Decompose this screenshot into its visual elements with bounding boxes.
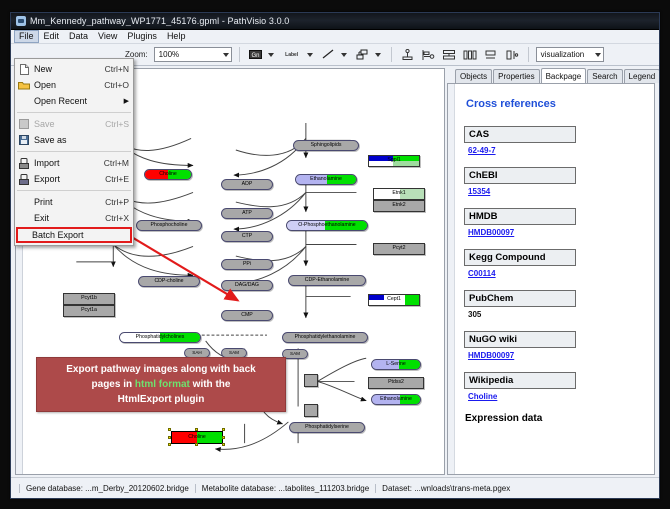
selection-handle-s[interactable] — [195, 443, 198, 446]
interaction-dropdown-icon[interactable] — [375, 53, 381, 57]
node-label: Ethanolamine — [380, 397, 412, 402]
node-phosphocholine[interactable]: Phosphocholine — [136, 220, 202, 231]
menu-separator-1 — [17, 112, 131, 113]
gene-label: Etnk1 — [392, 191, 405, 196]
tab-search[interactable]: Search — [587, 69, 622, 83]
gene-fill-right — [405, 295, 419, 305]
xref-value-kegg[interactable]: C00114 — [468, 269, 644, 278]
xref-value-nugo[interactable]: HMDB00097 — [468, 351, 644, 360]
selection-handle-sw[interactable] — [168, 443, 171, 446]
menu-item-new[interactable]: New Ctrl+N — [15, 61, 133, 77]
backpage-panel: Cross references CAS 62-49-7 ChEBI 15354… — [447, 83, 655, 475]
callout-line-1: Export pathway images along with back — [43, 362, 279, 377]
node-l-serine[interactable]: L-Serine — [371, 359, 421, 370]
blank-icon-2 — [17, 196, 31, 208]
menu-item-import-label: Import — [34, 158, 98, 168]
visualization-value: visualization — [541, 50, 585, 59]
align-left-tool-icon[interactable] — [420, 46, 437, 63]
status-metabolite-database: Metabolite database: ...tabolites_111203… — [195, 484, 375, 493]
node-phosphatidylcholines[interactable]: Phosphatidylcholines — [119, 332, 201, 343]
node-label: L-Serine — [386, 362, 406, 367]
save-as-icon — [17, 134, 31, 146]
node-atp[interactable]: ATP — [221, 208, 273, 219]
menu-item-open[interactable]: Open Ctrl+O — [15, 77, 133, 93]
selection-handle-e[interactable] — [222, 436, 225, 439]
xref-head-kegg: Kegg Compound — [464, 249, 576, 266]
selection-handle-ne[interactable] — [222, 428, 225, 431]
xref-head-cas: CAS — [464, 126, 576, 143]
gene-pcyt2[interactable]: Pcyt2 — [373, 243, 425, 255]
side-panel-tabs: Objects Properties Backpage Search Legen… — [447, 68, 655, 83]
node-cdp-ethanolamine[interactable]: CDP-Ethanolamine — [288, 275, 366, 286]
datanode-dropdown-icon[interactable] — [268, 53, 274, 57]
menu-item-print-label: Print — [34, 197, 99, 207]
toolbar-separator-3 — [528, 47, 529, 62]
xref-value-cas[interactable]: 62-49-7 — [468, 146, 644, 155]
submenu-arrow-icon: ▶ — [124, 97, 129, 105]
menu-item-save-label: Save — [34, 119, 99, 129]
node-label: O-Phosphoethanolamine — [298, 223, 355, 228]
menu-item-batch-export[interactable]: Batch Export — [16, 227, 132, 243]
node-adp[interactable]: ADP — [221, 179, 273, 190]
tab-legend[interactable]: Legend — [624, 69, 660, 83]
title-bar: Mm_Kennedy_pathway_WP1771_45176.gpml - P… — [11, 13, 659, 30]
xref-head-chebi: ChEBI — [464, 167, 576, 184]
gene-label: Ptdss2 — [388, 380, 404, 385]
node-label: Phosphatidylserine — [305, 425, 349, 430]
align-top-tool-icon[interactable] — [399, 46, 416, 63]
xref-value-chebi[interactable]: 15354 — [468, 187, 644, 196]
gene-unlabeled-2[interactable] — [304, 404, 318, 417]
interaction-tool-icon[interactable] — [354, 46, 371, 63]
toolbar-separator-2 — [391, 47, 392, 62]
node-cmp[interactable]: CMP — [221, 310, 273, 321]
svg-text:Gn: Gn — [251, 53, 259, 59]
node-phosphatidylethanolamine[interactable]: Phosphatidylethanolamine — [282, 332, 368, 343]
label-tool-button[interactable]: Label — [281, 46, 303, 63]
save-icon — [17, 118, 31, 130]
gene-etnk1[interactable]: Etnk1 — [373, 188, 425, 200]
gene-fill-tl — [369, 295, 384, 300]
selection-handle-w[interactable] — [168, 436, 171, 439]
status-gene-database: Gene database: ...m_Derby_20120602.bridg… — [19, 484, 195, 493]
expression-data-heading: Expression data — [465, 413, 644, 424]
import-icon — [17, 157, 31, 169]
node-label: ATP — [242, 211, 252, 216]
menu-item-new-accel: Ctrl+N — [105, 64, 129, 74]
toolbar-separator — [239, 47, 240, 62]
menu-item-open-label: Open — [34, 80, 98, 90]
menu-item-new-label: New — [34, 64, 99, 74]
node-label: SAM — [229, 351, 239, 356]
menu-item-exit[interactable]: Exit Ctrl+X — [15, 210, 133, 226]
node-label: Phosphatidylcholines — [136, 335, 185, 340]
gene-pcyt1b[interactable]: Pcyt1b — [63, 293, 115, 305]
line-tool-icon[interactable] — [320, 46, 337, 63]
menu-item-print[interactable]: Print Ctrl+P — [15, 194, 133, 210]
chevron-down-icon — [223, 53, 229, 57]
side-panel: Objects Properties Backpage Search Legen… — [447, 68, 655, 475]
stack-center-tool-icon[interactable] — [441, 46, 458, 63]
node-label: CDP-choline — [154, 279, 183, 284]
menu-edit[interactable]: Edit — [39, 30, 65, 43]
tab-backpage[interactable]: Backpage — [541, 68, 587, 84]
gene-etnk2[interactable]: Etnk2 — [373, 200, 425, 212]
node-label: Sphingolipids — [311, 143, 342, 148]
chevron-down-icon-2 — [595, 53, 601, 57]
pathvisio-icon — [16, 16, 26, 26]
menu-separator-2 — [17, 151, 131, 152]
node-dagdag[interactable]: DAG/DAG — [221, 280, 273, 291]
status-dataset: Dataset: ...wnloads\trans-meta.pgex — [375, 484, 516, 493]
gene-label: Pcyt2 — [393, 246, 406, 251]
xref-value-pubchem: 305 — [468, 310, 644, 319]
menu-bar: File Edit Data View Plugins Help — [11, 30, 659, 44]
menu-item-open-accel: Ctrl+O — [104, 80, 129, 90]
menu-item-print-accel: Ctrl+P — [105, 197, 129, 207]
visualization-combo[interactable]: visualization — [536, 47, 604, 62]
line-dropdown-icon[interactable] — [341, 53, 347, 57]
node-phosphatidylserine[interactable]: Phosphatidylserine — [289, 422, 365, 433]
menu-item-save-accel: Ctrl+S — [105, 119, 129, 129]
common-height-tool-icon[interactable] — [504, 46, 521, 63]
xref-value-hmdb[interactable]: HMDB00097 — [468, 228, 644, 237]
backpage-title: Cross references — [466, 98, 644, 110]
tab-objects[interactable]: Objects — [455, 69, 492, 83]
selection-handle-nw[interactable] — [168, 428, 171, 431]
menu-data[interactable]: Data — [64, 30, 93, 43]
blank-icon-3 — [17, 212, 31, 224]
node-label: CDP-Ethanolamine — [305, 278, 349, 283]
selection-handle-se[interactable] — [222, 443, 225, 446]
xref-head-nugo: NuGO wiki — [464, 331, 576, 348]
annotation-callout: Export pathway images along with back pa… — [36, 357, 286, 412]
menu-item-save-as[interactable]: Save as — [15, 132, 133, 148]
menu-item-export-accel: Ctrl+E — [105, 174, 129, 184]
pathvisio-window: Mm_Kennedy_pathway_WP1771_45176.gpml - P… — [10, 12, 660, 499]
menu-item-open-recent[interactable]: Open Recent ▶ — [15, 93, 133, 109]
menu-item-export-label: Export — [34, 174, 99, 184]
export-icon — [17, 173, 31, 185]
menu-plugins[interactable]: Plugins — [122, 30, 162, 43]
zoom-combo[interactable]: 100% — [154, 47, 232, 62]
gene-cept1[interactable]: Cept1 — [368, 294, 420, 306]
gene-label: Cept1 — [387, 297, 401, 302]
menu-separator-3 — [17, 190, 131, 191]
gene-pcyt1a[interactable]: Pcyt1a — [63, 305, 115, 317]
node-ethanolamine-low[interactable]: Ethanolamine — [371, 394, 421, 405]
gene-label: Pcyt1a — [81, 308, 97, 313]
common-width-tool-icon[interactable] — [483, 46, 500, 63]
distribute-horizontal-tool-icon[interactable] — [462, 46, 479, 63]
backpage-scrollbar[interactable] — [448, 84, 455, 474]
xref-head-pubchem: PubChem — [464, 290, 576, 307]
status-bar: Gene database: ...m_Derby_20120602.bridg… — [11, 477, 659, 498]
screen-background: Mm_Kennedy_pathway_WP1771_45176.gpml - P… — [0, 0, 670, 509]
gene-ptdss2[interactable]: Ptdss2 — [368, 377, 424, 389]
gene-label: Etnk2 — [392, 203, 405, 208]
blank-icon — [17, 95, 31, 107]
node-ethanolamine-top[interactable]: Ethanolamine — [295, 174, 357, 185]
node-label: Phosphocholine — [151, 223, 188, 228]
node-label: DAG/DAG — [235, 283, 259, 288]
xref-value-wikipedia[interactable]: Choline — [468, 392, 644, 401]
node-label: Ethanolamine — [310, 177, 342, 182]
callout-line-2: pages in html format with the — [43, 377, 279, 392]
menu-item-save-as-label: Save as — [34, 135, 123, 145]
menu-item-import[interactable]: Import Ctrl+M — [15, 155, 133, 171]
node-label: Choline — [159, 172, 177, 177]
node-o-phosphoethanolamine[interactable]: O-Phosphoethanolamine — [286, 220, 368, 231]
node-label: SAH — [192, 351, 201, 356]
gene-sgpl1[interactable]: Sgpl1 — [368, 155, 420, 167]
menu-item-save[interactable]: Save Ctrl+S — [15, 116, 133, 132]
tab-properties[interactable]: Properties — [493, 69, 539, 83]
file-menu-dropdown: New Ctrl+N Open Ctrl+O Open Recent ▶ Sav… — [14, 58, 134, 246]
callout-line-3: HtmlExport plugin — [43, 392, 279, 407]
node-sphingolipids[interactable]: Sphingolipids — [293, 140, 359, 151]
menu-help[interactable]: Help — [162, 30, 191, 43]
gene-label: Sgpl1 — [387, 158, 400, 163]
callout-line-2a: pages in — [92, 379, 135, 390]
node-label: CTP — [242, 234, 252, 239]
menu-file[interactable]: File — [14, 30, 39, 43]
backpage-content: Cross references CAS 62-49-7 ChEBI 15354… — [464, 98, 644, 424]
selection-handle-n[interactable] — [195, 428, 198, 431]
xref-head-wikipedia: Wikipedia — [464, 372, 576, 389]
node-ctp[interactable]: CTP — [221, 231, 273, 242]
gene-unlabeled-1[interactable] — [304, 374, 318, 387]
menu-item-export[interactable]: Export Ctrl+E — [15, 171, 133, 187]
callout-line-2b: with the — [190, 379, 231, 390]
datanode-tool-icon[interactable]: Gn — [247, 46, 264, 63]
node-label: Choline — [188, 435, 206, 440]
node-label: PPi — [243, 262, 251, 267]
node-choline[interactable]: Choline — [144, 169, 192, 180]
menu-view[interactable]: View — [93, 30, 122, 43]
node-label: Phosphatidylethanolamine — [295, 335, 356, 340]
node-label: ADP — [242, 182, 253, 187]
menu-item-import-accel: Ctrl+M — [104, 158, 129, 168]
node-ppi[interactable]: PPi — [221, 259, 273, 270]
window-title: Mm_Kennedy_pathway_WP1771_45176.gpml - P… — [30, 16, 289, 26]
menu-item-open-recent-label: Open Recent — [34, 96, 124, 106]
node-label: SAM — [290, 352, 300, 357]
xref-head-hmdb: HMDB — [464, 208, 576, 225]
zoom-value: 100% — [159, 50, 179, 59]
open-folder-icon — [17, 79, 31, 91]
label-dropdown-icon[interactable] — [307, 53, 313, 57]
menu-item-exit-label: Exit — [34, 213, 99, 223]
new-file-icon — [17, 63, 31, 75]
callout-highlight: html format — [135, 379, 190, 390]
node-label: CMP — [241, 313, 253, 318]
menu-item-batch-export-label: Batch Export — [32, 230, 126, 240]
label-tool-text: Label — [285, 52, 298, 58]
node-cdp-choline[interactable]: CDP-choline — [138, 276, 200, 287]
gene-label: Pcyt1b — [81, 296, 97, 301]
menu-item-exit-accel: Ctrl+X — [105, 213, 129, 223]
